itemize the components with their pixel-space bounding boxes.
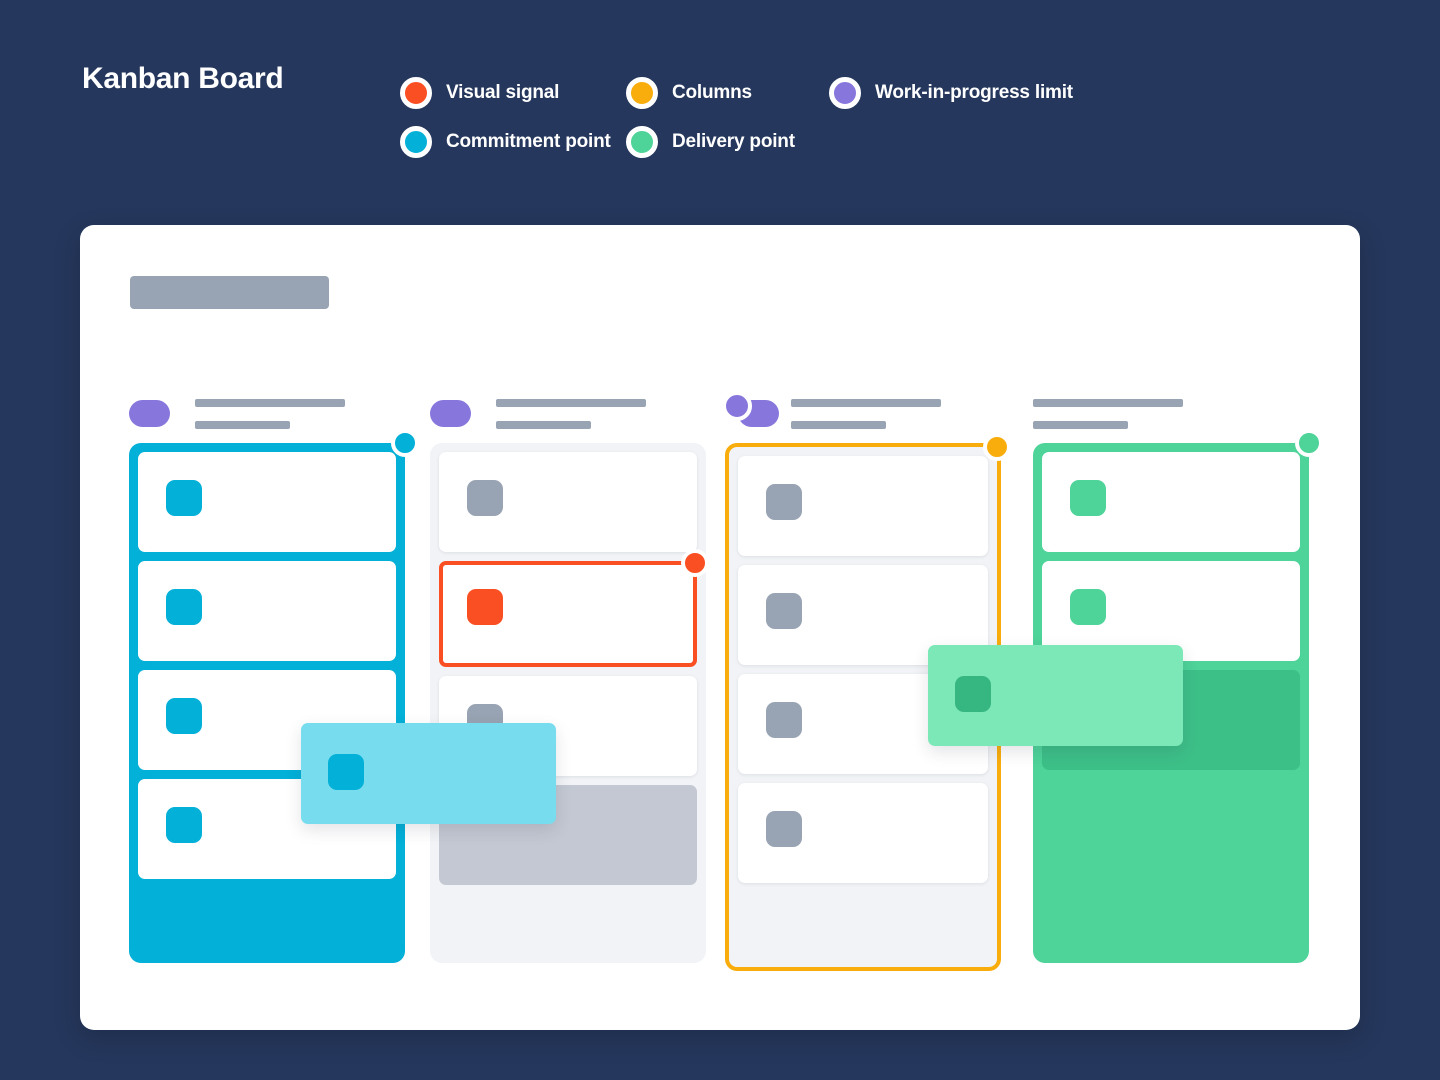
- card[interactable]: [738, 783, 988, 883]
- commitment-point-dot-icon: [400, 126, 432, 158]
- column-title-placeholder: [791, 399, 941, 429]
- card[interactable]: [138, 452, 396, 552]
- column-header: [129, 395, 405, 443]
- column-backlog[interactable]: [430, 395, 706, 963]
- avatar: [129, 400, 170, 427]
- column-header: [1033, 395, 1309, 443]
- delivery-point-badge-icon: [1295, 429, 1323, 457]
- card-chip-icon: [766, 484, 802, 520]
- placeholder-bar-long: [195, 399, 345, 407]
- card-chip-icon: [328, 754, 364, 790]
- visual-signal-dot-icon: [400, 77, 432, 109]
- card-chip-icon: [166, 480, 202, 516]
- card[interactable]: [138, 561, 396, 661]
- drag-card-green[interactable]: [928, 645, 1183, 746]
- card-chip-icon: [1070, 480, 1106, 516]
- placeholder-bar-short: [496, 421, 591, 429]
- legend-label: Delivery point: [672, 131, 795, 153]
- placeholder-bar-long: [791, 399, 941, 407]
- card-chip-icon: [467, 480, 503, 516]
- column-title-placeholder: [496, 399, 646, 429]
- drag-card-cyan[interactable]: [301, 723, 556, 824]
- column-header: [430, 395, 706, 443]
- column-body[interactable]: [430, 443, 706, 963]
- columns-dot-icon: [626, 77, 658, 109]
- kanban-board-screen: Kanban Board Visual signal Columns Work-…: [0, 0, 1440, 1080]
- legend-row: Visual signal Columns Work-in-progress l…: [400, 68, 1160, 117]
- card[interactable]: [439, 452, 697, 552]
- legend-item-delivery-point[interactable]: Delivery point: [626, 117, 795, 166]
- legend-label: Work-in-progress limit: [875, 82, 1073, 104]
- column-body[interactable]: [129, 443, 405, 963]
- card-chip-icon: [766, 702, 802, 738]
- placeholder-bar-short: [791, 421, 886, 429]
- card[interactable]: [1042, 452, 1300, 552]
- legend-label: Commitment point: [446, 131, 611, 153]
- card-alert[interactable]: [439, 561, 697, 667]
- page-title: Kanban Board: [82, 62, 283, 96]
- legend-item-commitment-point[interactable]: Commitment point: [400, 117, 626, 166]
- visual-signal-badge-icon: [681, 549, 709, 577]
- commitment-point-badge-icon: [391, 429, 419, 457]
- wip-limit-dot-icon: [829, 77, 861, 109]
- placeholder-bar-short: [1033, 421, 1128, 429]
- legend: Visual signal Columns Work-in-progress l…: [400, 68, 1160, 166]
- card-chip-icon: [166, 589, 202, 625]
- card-chip-icon: [955, 676, 991, 712]
- placeholder-bar-long: [496, 399, 646, 407]
- card[interactable]: [738, 456, 988, 556]
- column-header: [725, 395, 1001, 443]
- card-chip-icon: [766, 593, 802, 629]
- card-chip-icon: [1070, 589, 1106, 625]
- column-title-placeholder: [195, 399, 345, 429]
- legend-label: Columns: [672, 82, 752, 104]
- column-title-placeholder: [1033, 399, 1183, 429]
- legend-row: Commitment point Delivery point: [400, 117, 1160, 166]
- placeholder-bar-long: [1033, 399, 1183, 407]
- board-panel: [80, 225, 1360, 1030]
- columns-badge-icon: [983, 433, 1011, 461]
- placeholder-bar-short: [195, 421, 290, 429]
- legend-label: Visual signal: [446, 82, 559, 104]
- card-chip-icon: [166, 698, 202, 734]
- wip-limit-avatar-dot-icon: [722, 391, 752, 421]
- legend-item-columns[interactable]: Columns: [626, 68, 829, 117]
- column-commitment[interactable]: [129, 395, 405, 963]
- legend-item-wip-limit[interactable]: Work-in-progress limit: [829, 68, 1073, 117]
- delivery-point-dot-icon: [626, 126, 658, 158]
- avatar: [430, 400, 471, 427]
- card-chip-icon: [166, 807, 202, 843]
- legend-item-visual-signal[interactable]: Visual signal: [400, 68, 626, 117]
- card-chip-icon: [766, 811, 802, 847]
- board-title-placeholder: [130, 276, 329, 309]
- card-chip-icon: [467, 589, 503, 625]
